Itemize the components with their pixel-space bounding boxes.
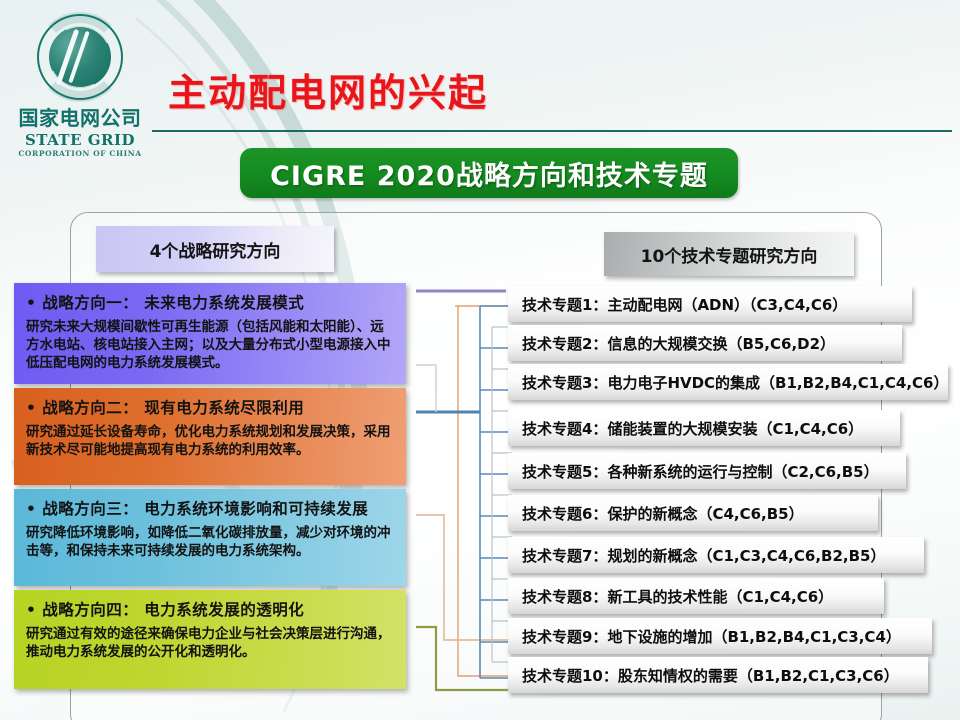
technical-topic-row: 技术专题7：规划的新概念（C1,C3,C4,C6,B2,B5） xyxy=(508,537,924,573)
technical-topic-row: 技术专题9：地下设施的增加（B1,B2,B4,C1,C3,C4） xyxy=(508,618,932,654)
strategic-direction-title: • 战略方向三： 电力系统环境影响和可持续发展 xyxy=(26,497,394,519)
technical-topic-row: 技术专题8：新工具的技术性能（C1,C4,C6） xyxy=(508,578,884,614)
left-column-header-label: 4个战略研究方向 xyxy=(150,237,281,262)
technical-topic-row: 技术专题5：各种新系统的运行与控制（C2,C6,B5） xyxy=(508,453,906,489)
technical-topic-row: 技术专题6：保护的新概念（C4,C6,B5） xyxy=(508,495,878,531)
technical-topic-row: 技术专题2：信息的大规模交换（B5,C6,D2） xyxy=(508,325,902,361)
strategic-direction-title: • 战略方向二： 现有电力系统尽限利用 xyxy=(26,396,394,418)
strategic-direction-card: • 战略方向二： 现有电力系统尽限利用 研究通过延长设备寿命，优化电力系统规划和… xyxy=(14,388,406,485)
left-column-header: 4个战略研究方向 xyxy=(96,226,334,272)
strategic-direction-card: • 战略方向四： 电力系统发展的透明化 研究通过有效的途径来确保电力企业与社会决… xyxy=(14,590,406,689)
strategic-direction-body: 研究通过有效的途径来确保电力企业与社会决策层进行沟通，推动电力系统发展的公开化和… xyxy=(26,625,394,661)
strategic-direction-body: 研究通过延长设备寿命，优化电力系统规划和发展决策，采用新技术尽可能地提高现有电力… xyxy=(26,423,394,459)
technical-topic-row: 技术专题10：股东知情权的需要（B1,B2,C1,C3,C6） xyxy=(508,657,928,693)
technical-topic-row: 技术专题3：电力电子HVDC的集成（B1,B2,B4,C1,C4,C6） xyxy=(508,364,948,400)
strategic-direction-body: 研究降低环境影响，如降低二氧化碳排放量，减少对环境的冲击等，和保持未来可持续发展… xyxy=(26,524,394,560)
strategic-direction-body: 研究未来大规模间歇性可再生能源（包括风能和太阳能）、远方水电站、核电站接入主网；… xyxy=(26,318,394,373)
technical-topic-row: 技术专题4：储能装置的大规模安装（C1,C4,C6） xyxy=(508,410,900,446)
right-column-header-label: 10个技术专题研究方向 xyxy=(641,242,818,267)
slide-canvas: 国家电网公司 STATE GRID CORPORATION OF CHINA 主… xyxy=(0,0,960,720)
strategic-direction-title: • 战略方向一： 未来电力系统发展模式 xyxy=(26,291,394,313)
strategic-direction-title: • 战略方向四： 电力系统发展的透明化 xyxy=(26,598,394,620)
strategic-direction-card: • 战略方向三： 电力系统环境影响和可持续发展 研究降低环境影响，如降低二氧化碳… xyxy=(14,489,406,586)
right-column-header: 10个技术专题研究方向 xyxy=(604,232,854,276)
technical-topic-row: 技术专题1：主动配电网（ADN）（C3,C4,C6） xyxy=(508,286,912,322)
strategic-direction-card: • 战略方向一： 未来电力系统发展模式 研究未来大规模间歇性可再生能源（包括风能… xyxy=(14,283,406,384)
